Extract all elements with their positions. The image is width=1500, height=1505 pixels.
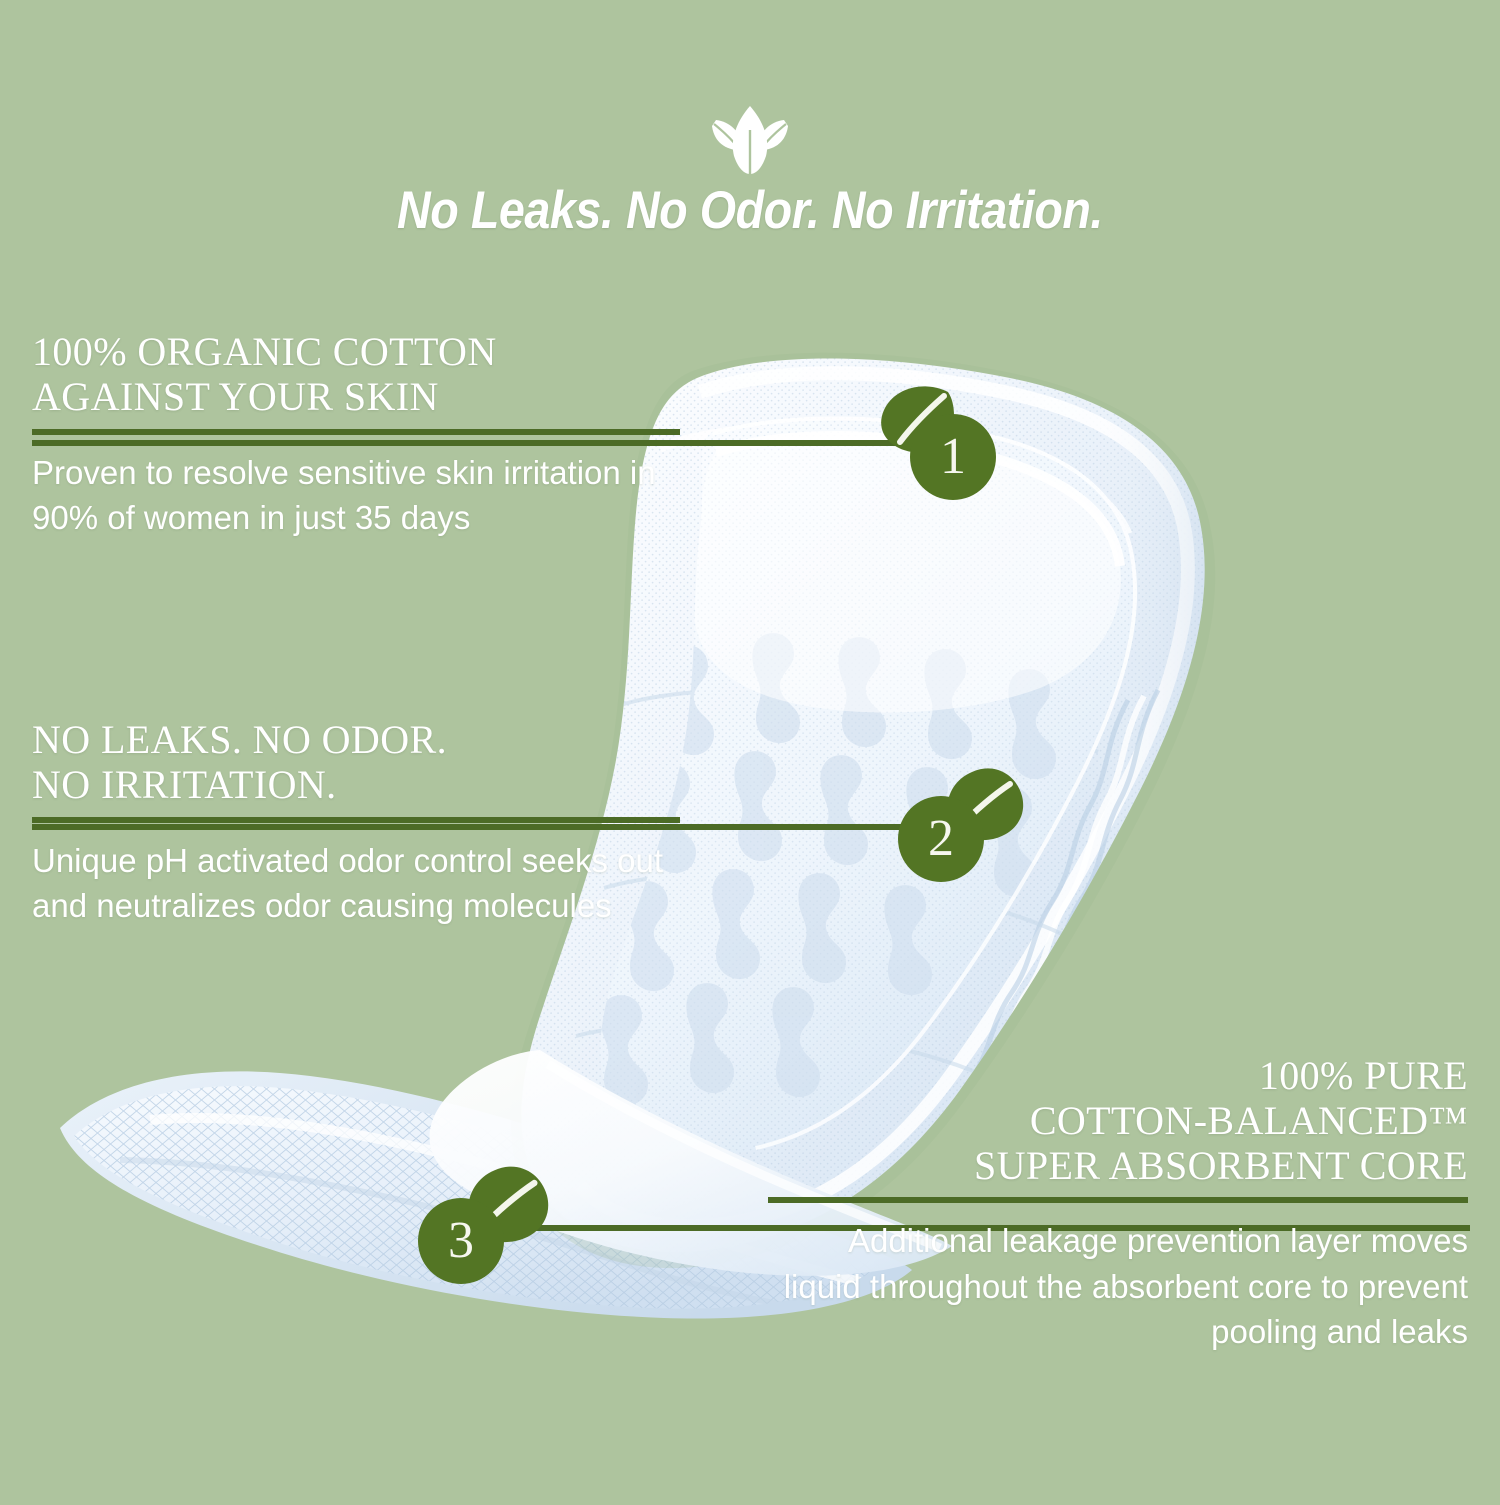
infographic-stage: No Leaks. No Odor. No Irritation. 100% O…: [0, 0, 1500, 1500]
infographic-overlay: No Leaks. No Odor. No Irritation. 100% O…: [0, 0, 1500, 1500]
feature-block-2: NO LEAKS. NO ODOR. NO IRRITATION. Unique…: [32, 718, 692, 928]
three-leaves-icon: [690, 104, 810, 183]
feature-3-body: Additional leakage prevention layer move…: [768, 1218, 1468, 1354]
feature-3-title: 100% PURE COTTON-BALANCED™ SUPER ABSORBE…: [768, 1054, 1468, 1188]
feature-1-rule: [32, 429, 680, 435]
callout-badge-1-number: 1: [910, 414, 996, 500]
feature-block-3: 100% PURE COTTON-BALANCED™ SUPER ABSORBE…: [768, 1054, 1468, 1354]
feature-2-body: Unique pH activated odor control seeks o…: [32, 838, 692, 928]
feature-1-body: Proven to resolve sensitive skin irritat…: [32, 450, 692, 540]
feature-2-title-line-1: NO LEAKS. NO ODOR.: [32, 718, 692, 763]
callout-badge-2-number: 2: [898, 796, 984, 882]
callout-badge-1[interactable]: 1: [884, 388, 996, 500]
feature-1-title-line-2: AGAINST YOUR SKIN: [32, 375, 692, 420]
feature-1-title-line-1: 100% ORGANIC COTTON: [32, 330, 692, 375]
feature-3-title-line-3: SUPER ABSORBENT CORE: [768, 1144, 1468, 1189]
feature-3-rule: [768, 1197, 1468, 1203]
feature-2-title-line-2: NO IRRITATION.: [32, 763, 692, 808]
callout-badge-2[interactable]: 2: [898, 770, 1010, 882]
feature-block-1: 100% ORGANIC COTTON AGAINST YOUR SKIN Pr…: [32, 330, 692, 540]
feature-1-title: 100% ORGANIC COTTON AGAINST YOUR SKIN: [32, 330, 692, 420]
feature-3-title-line-2: COTTON-BALANCED™: [768, 1099, 1468, 1144]
callout-badge-3[interactable]: 3: [418, 1172, 530, 1284]
callout-badge-3-number: 3: [418, 1198, 504, 1284]
page-headline: No Leaks. No Odor. No Irritation.: [90, 180, 1410, 241]
feature-2-rule: [32, 817, 680, 823]
feature-3-title-line-1: 100% PURE: [768, 1054, 1468, 1099]
feature-2-title: NO LEAKS. NO ODOR. NO IRRITATION.: [32, 718, 692, 808]
